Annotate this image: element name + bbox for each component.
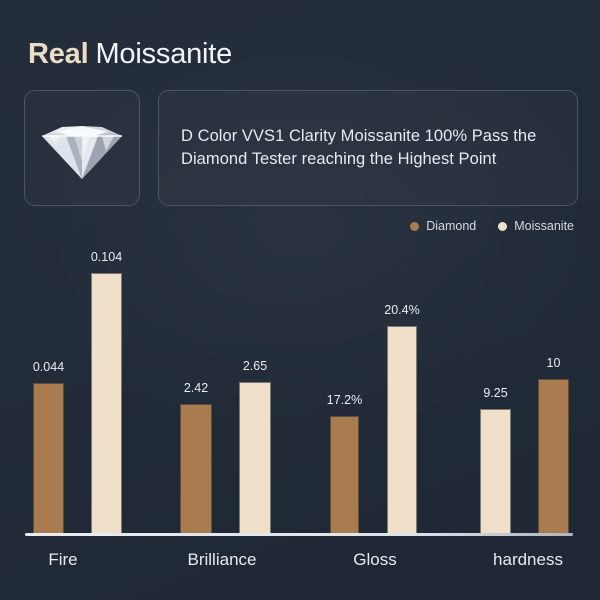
category-label-fire: Fire (48, 550, 77, 570)
legend-label-diamond: Diamond (426, 219, 476, 233)
bar-rect (33, 383, 64, 534)
legend-item-moissanite[interactable]: Moissanite (498, 219, 574, 233)
category-label-brilliance: Brilliance (188, 550, 257, 570)
diamond-gem-icon (36, 113, 128, 183)
bar-hardness-diamond[interactable]: 10 (538, 233, 569, 534)
legend-dot-moissanite-icon (498, 222, 507, 231)
bar-value-label: 10 (547, 356, 561, 370)
legend-dot-diamond-icon (410, 222, 419, 231)
bar-fire-moissanite[interactable]: 0.104 (91, 233, 122, 534)
page-title-light: Moissanite (95, 38, 232, 70)
bar-value-label: 0.044 (33, 360, 64, 374)
page-title: RealMoissanite (28, 38, 232, 71)
bar-rect (330, 416, 359, 534)
category-label-hardness: hardness (493, 550, 563, 570)
bar-value-label: 9.25 (483, 386, 507, 400)
bar-hardness-moissanite[interactable]: 9.25 (480, 233, 511, 534)
bar-gloss-moissanite[interactable]: 20.4% (387, 233, 417, 534)
page-title-strong: Real (28, 38, 88, 70)
gem-image-card (24, 90, 140, 206)
legend-label-moissanite: Moissanite (514, 219, 574, 233)
chart-baseline (25, 533, 573, 536)
bar-chart: 0.0440.1042.422.6517.2%20.4%9.2510 FireB… (0, 232, 600, 600)
bar-brilliance-moissanite[interactable]: 2.65 (239, 233, 271, 534)
bar-rect (239, 382, 271, 534)
infographic-root: RealMoissanite (0, 0, 600, 600)
chart-plot-area: 0.0440.1042.422.6517.2%20.4%9.2510 (0, 232, 600, 534)
chart-legend: Diamond Moissanite (410, 219, 574, 233)
bar-gloss-diamond[interactable]: 17.2% (330, 233, 359, 534)
bar-brilliance-diamond[interactable]: 2.42 (180, 233, 212, 534)
bar-value-label: 20.4% (384, 303, 419, 317)
bar-value-label: 17.2% (327, 393, 362, 407)
category-label-gloss: Gloss (353, 550, 396, 570)
description-card: D Color VVS1 Clarity Moissanite 100% Pas… (158, 90, 578, 206)
bar-rect (538, 379, 569, 534)
bar-rect (480, 409, 511, 534)
bar-value-label: 2.42 (184, 381, 208, 395)
description-text: D Color VVS1 Clarity Moissanite 100% Pas… (181, 125, 555, 172)
bar-rect (387, 326, 417, 534)
bar-rect (91, 273, 122, 534)
bar-value-label: 0.104 (91, 250, 122, 264)
bar-rect (180, 404, 212, 534)
bar-fire-diamond[interactable]: 0.044 (33, 233, 64, 534)
legend-item-diamond[interactable]: Diamond (410, 219, 476, 233)
bar-value-label: 2.65 (243, 359, 267, 373)
